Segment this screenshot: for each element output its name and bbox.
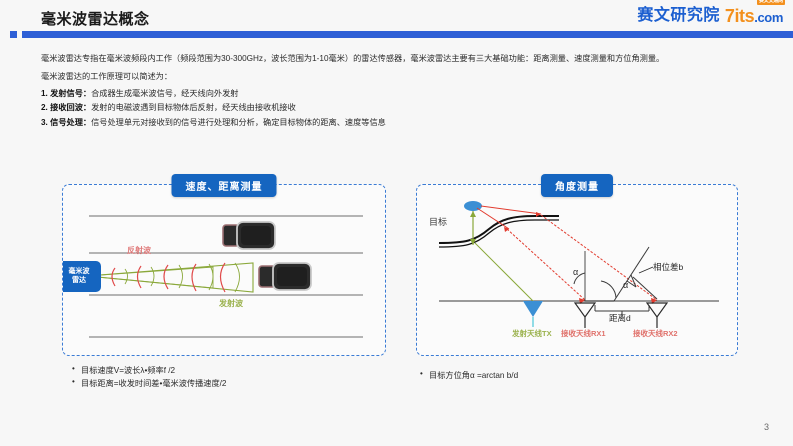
panel-right-bullets: 目标方位角α =arctan b/d [420,369,720,382]
body-copy: 毫米波雷达专指在毫米波频段内工作（频段范围为30-300GHz，波长范围为1-1… [41,52,759,130]
vehicle-top [223,222,275,249]
rx2-antenna-label: 接收天线RX2 [633,328,678,339]
phase-diff-segment [633,277,657,299]
alpha-label-top: α [573,267,578,277]
rx1-antenna-icon [575,303,595,328]
reflected-arc [221,263,226,292]
principle-steps: 1. 发射信号：合成器生成毫米波信号，经天线向外发射 2. 接收回波：发射的电磁… [41,87,759,131]
bullet-item: 目标速度V=波长λ•频率f /2 [72,364,372,377]
step-item: 2. 接收回波：发射的电磁波遇到目标物体后反射，经天线由接收机接收 [41,101,759,116]
step-item: 1. 发射信号：合成器生成毫米波信号，经天线向外发射 [41,87,759,102]
brand-en-text: 7its [725,6,754,26]
bullet-item: 目标距离=收发时间差•毫米波传播速度/2 [72,377,372,390]
alpha-arc-bottom [601,281,616,298]
tx-antenna-icon [523,301,543,327]
speed-distance-diagram [63,185,385,355]
panel-left-bullets: 目标速度V=波长λ•频率f /2 目标距离=收发时间差•毫米波传播速度/2 [72,364,372,390]
brand-logo: 赛文研究院 7its.com 赛文交通网 [637,7,783,25]
rx1-antenna-label: 接收天线RX1 [561,328,606,339]
bullet-item: 目标方位角α =arctan b/d [420,369,720,382]
brand-tld: .com [754,10,783,25]
target-label: 目标 [429,215,447,228]
wavefront-arc [209,264,213,290]
reflected-arc [164,265,168,289]
wavefront-arc [235,263,240,292]
phase-leader [639,267,653,273]
ray-target-rx2 [481,206,541,214]
page-title: 毫米波雷达概念 [41,8,150,29]
rx2-antenna-icon [647,303,667,328]
page-number: 3 [764,422,769,432]
alpha-label-bottom: α [623,280,628,290]
intro-paragraph: 毫米波雷达专指在毫米波频段内工作（频段范围为30-300GHz，波长范围为1-1… [41,52,759,66]
radar-label-line2: 雷达 [72,277,86,286]
step-text: 信号处理单元对接收到的信号进行处理和分析，确定目标物体的距离、速度等信息 [91,118,386,127]
step-text: 发射的电磁波遇到目标物体后反射，经天线由接收机接收 [91,103,296,112]
ray-to-rx2 [541,215,657,300]
tx-arrow-up [470,211,476,217]
emit-wave-label: 发射波 [219,298,243,309]
step-term: 发射信号： [50,89,91,98]
accent-square [10,31,17,38]
radar-beam-inner [87,267,213,288]
brand-name-en: 7its.com 赛文交通网 [725,7,783,25]
radar-label-line1: 毫米波 [69,268,90,277]
step-number: 2. [41,103,48,112]
wavefront-arc [151,267,154,286]
radar-sensor-label: 毫米波 雷达 [57,262,101,292]
accent-bar [22,31,793,38]
step-number: 3. [41,118,48,127]
tx-antenna-label: 发射天线TX [512,328,552,339]
brand-name-cn: 赛文研究院 [637,8,720,24]
panel-angle: 角度测量 [416,184,738,356]
step-text: 合成器生成毫米波信号，经天线向外发射 [91,89,238,98]
tx-ray [475,243,533,301]
ray-to-rx1 [507,229,585,300]
step-number: 1. [41,89,48,98]
panel-speed-distance: 速度、距离测量 [62,184,386,356]
wavefront-line [614,247,649,301]
vehicle-target [259,263,311,290]
reflect-wave-label: 反射波 [127,245,151,256]
slide-root: 毫米波雷达概念 赛文研究院 7its.com 赛文交通网 毫米波雷达专指在毫米波… [0,0,793,446]
principle-lead: 毫米波雷达的工作原理可以简述为： [41,70,759,84]
step-item: 3. 信号处理：信号处理单元对接收到的信号进行处理和分析，确定目标物体的距离、速… [41,116,759,131]
reflected-arc [112,268,115,286]
distance-d-label: 距离d [609,312,631,324]
step-term: 信号处理： [50,118,91,127]
wavefront-arc [125,269,128,284]
step-term: 接收回波： [50,103,91,112]
phase-diff-label: 相位差b [653,261,683,273]
reflected-arc [138,266,142,288]
header-accent-rule [0,31,793,38]
brand-chip-badge: 赛文交通网 [757,0,785,5]
